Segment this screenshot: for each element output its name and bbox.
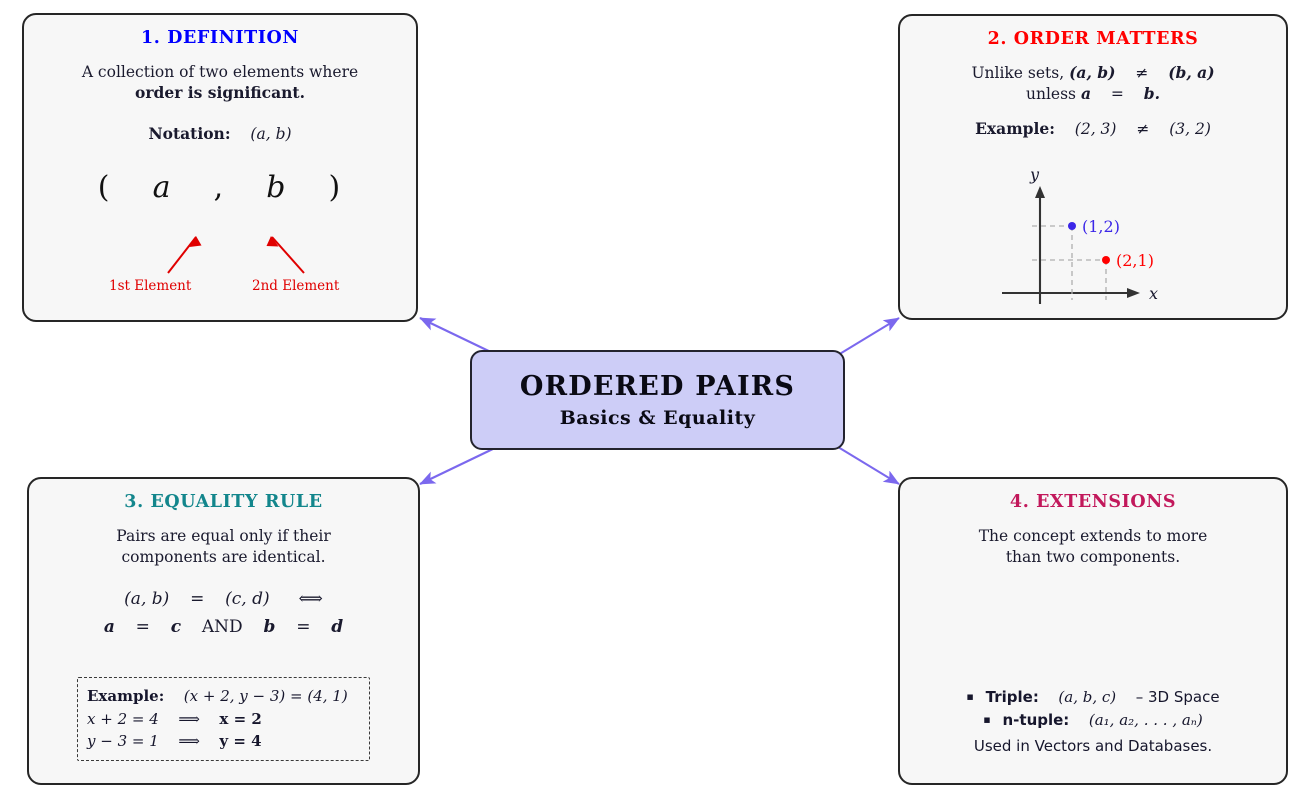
hub-node: ORDERED PAIRS Basics & Equality <box>470 350 845 450</box>
plot-y-axis-label: y <box>1029 165 1040 184</box>
order-example-label: Example: <box>975 119 1055 138</box>
arrow-hub-to-order <box>838 318 899 355</box>
arrow-hub-to-equality <box>420 447 497 484</box>
extensions-bullet-triple: ▪ Triple: (a, b, c) – 3D Space <box>900 686 1286 709</box>
card-order-matters: 2. ORDER MATTERS Unlike sets, (a, b) ≠ (… <box>898 14 1288 320</box>
rule2-a: a <box>104 617 115 637</box>
card-equality-rule: 3. EQUALITY RULE Pairs are equal only if… <box>27 477 420 785</box>
plot-point-2-1-label: (2,1) <box>1116 251 1154 270</box>
equality-example-box: Example: (x + 2, y − 3) = (4, 1) x + 2 =… <box>77 677 370 761</box>
annotation-arrows <box>24 15 420 320</box>
order-line2-lhs: a <box>1081 84 1091 103</box>
equality-example-statement-row: Example: (x + 2, y − 3) = (4, 1) <box>87 685 363 707</box>
step1-rhs: x = 2 <box>219 710 261 728</box>
bullet-triple-value: (a, b, c) <box>1058 688 1116 706</box>
bullet-square-icon-2: ▪ <box>983 713 990 726</box>
order-example-rhs: (3, 2) <box>1169 120 1211 138</box>
extensions-bullet-ntuple: ▪ n-tuple: (a₁, a₂, . . . , aₙ) <box>900 709 1286 732</box>
equality-example-statement: (x + 2, y − 3) = (4, 1) <box>184 687 348 705</box>
plot-point-1-2 <box>1068 222 1076 230</box>
step2-arrow: ⟹ <box>178 732 200 750</box>
bullet-square-icon: ▪ <box>966 690 973 703</box>
rule-eq: = <box>190 589 204 609</box>
card-extensions: 4. EXTENSIONS The concept extends to mor… <box>898 477 1288 785</box>
rule-rhs: (c, d) <box>225 589 269 609</box>
card-equality-rule-line2: a = c AND b = d <box>29 616 418 639</box>
card-equality-line2: components are identical. <box>29 547 418 568</box>
card-order-line2: unless a = b. <box>900 84 1286 105</box>
plot-x-axis-arrowhead <box>1127 288 1140 298</box>
plot-y-axis-arrowhead <box>1035 186 1045 198</box>
order-line1-lhs: (a, b) <box>1069 63 1115 82</box>
hub-subtitle: Basics & Equality <box>560 407 756 429</box>
card-extensions-line1: The concept extends to more <box>900 526 1286 547</box>
equality-example-step2: y − 3 = 1 ⟹ y = 4 <box>87 730 363 752</box>
order-line1-pre: Unlike sets, <box>971 64 1064 82</box>
extensions-footer: Used in Vectors and Databases. <box>900 737 1286 755</box>
equality-example-label: Example: <box>87 687 164 705</box>
rule2-c: c <box>171 617 181 637</box>
arrow-to-first-element <box>168 237 196 273</box>
bullet-ntuple-label: n-tuple: <box>1003 711 1070 729</box>
card-extensions-title: 4. EXTENSIONS <box>900 492 1286 512</box>
hub-title: ORDERED PAIRS <box>520 371 795 402</box>
rule-lhs: (a, b) <box>124 589 169 609</box>
step1-arrow: ⟹ <box>178 710 200 728</box>
card-equality-rule-line1: (a, b) = (c, d) ⟺ <box>29 588 418 611</box>
bullet-ntuple-value: (a₁, a₂, . . . , aₙ) <box>1089 711 1203 729</box>
card-order-title: 2. ORDER MATTERS <box>900 29 1286 49</box>
order-line2-rel: = <box>1111 85 1124 103</box>
step2-rhs: y = 4 <box>219 732 261 750</box>
card-equality-title: 3. EQUALITY RULE <box>29 492 418 512</box>
card-extensions-line2: than two components. <box>900 547 1286 568</box>
rule2-d: d <box>331 617 343 637</box>
rule2-eq2: = <box>296 617 310 637</box>
card-order-line1: Unlike sets, (a, b) ≠ (b, a) <box>900 63 1286 84</box>
bullet-triple-label: Triple: <box>986 688 1039 706</box>
step2-lhs: y − 3 = 1 <box>87 732 159 750</box>
coordinate-plot: y x (1,2) (2,1) <box>962 162 1252 322</box>
card-definition: 1. DEFINITION A collection of two elemen… <box>22 13 418 322</box>
annotation-first-element: 1st Element <box>109 278 191 294</box>
step1-lhs: x + 2 = 4 <box>87 710 159 728</box>
arrow-to-second-element <box>272 237 304 273</box>
extensions-bullet-list: ▪ Triple: (a, b, c) – 3D Space ▪ n-tuple… <box>900 686 1286 731</box>
card-equality-line1: Pairs are equal only if their <box>29 526 418 547</box>
order-line1-rhs: (b, a) <box>1168 63 1214 82</box>
diagram-canvas: 1. DEFINITION A collection of two elemen… <box>0 0 1313 805</box>
order-line1-rel: ≠ <box>1135 64 1148 82</box>
rule2-eq1: = <box>136 617 150 637</box>
plot-x-axis-label: x <box>1149 284 1158 303</box>
rule-iff-symbol: ⟺ <box>298 589 322 609</box>
order-line2-pre: unless <box>1026 85 1076 103</box>
order-example-lhs: (2, 3) <box>1075 120 1117 138</box>
arrow-hub-to-extensions <box>838 447 899 484</box>
order-line2-rhs: b. <box>1144 84 1160 103</box>
plot-point-1-2-label: (1,2) <box>1082 217 1120 236</box>
annotation-second-element: 2nd Element <box>252 278 339 294</box>
card-order-example: Example: (2, 3) ≠ (3, 2) <box>900 119 1286 140</box>
plot-point-2-1 <box>1102 256 1110 264</box>
rule2-b: b <box>264 617 276 637</box>
order-example-rel: ≠ <box>1136 120 1149 138</box>
rule2-and: AND <box>202 617 243 637</box>
equality-example-step1: x + 2 = 4 ⟹ x = 2 <box>87 708 363 730</box>
bullet-triple-note: – 3D Space <box>1136 688 1220 706</box>
